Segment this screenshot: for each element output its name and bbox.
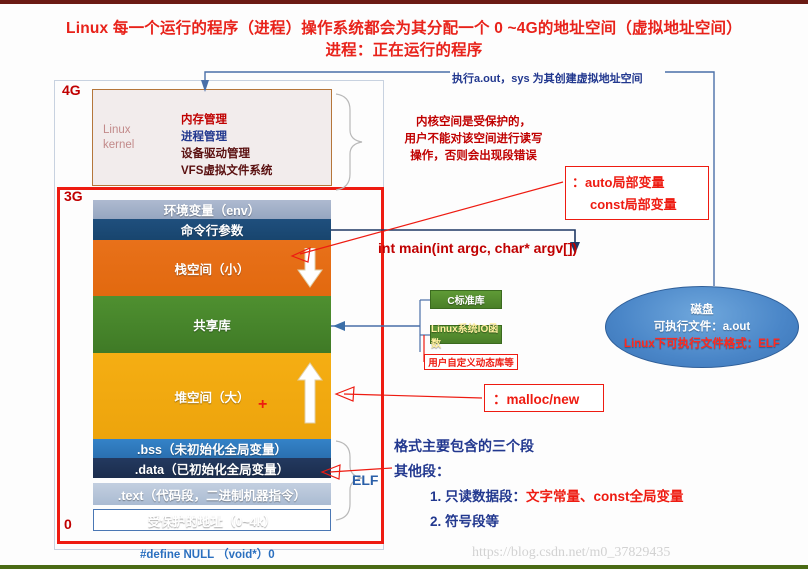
kernel-name: Linux kernel [103, 123, 134, 153]
disk-title: 磁盘 [691, 302, 714, 319]
kernel-name-line1: Linux [103, 123, 134, 138]
segment-text: .text（代码段，二进制机器指令） [93, 483, 331, 505]
stack-contents-callout: ：auto局部变量 const局部变量 [565, 166, 709, 220]
kernel-note-line2: 用户不能对该空间进行读写 [366, 131, 581, 148]
slide-canvas: Linux 每一个运行的程序（进程）操作系统都会为其分配一个 0 ~4G的地址空… [0, 0, 808, 569]
kernel-space-box: Linux kernel 内存管理 进程管理 设备驱动管理 VFS虚拟文件系统 [92, 89, 332, 186]
library-c-standard: C标准库 [430, 290, 502, 309]
kernel-item-memory: 内存管理 [181, 112, 272, 129]
format-item-2: 2. 符号段等 [394, 509, 794, 534]
segment-protected: 受保护的地址（0~4k） [93, 509, 331, 531]
elf-format-list: 格式主要包含的三个段 其他段： 1. 只读数据段：文字常量、const全局变量 … [394, 434, 794, 534]
library-user-custom: 用户自定义动态库等 [424, 354, 518, 370]
kernel-protected-note: 内核空间是受保护的， 用户不能对该空间进行读写 操作，否则会出现段错误 [366, 114, 581, 165]
segment-argv: 命令行参数 [93, 219, 331, 240]
heap-contents-callout: ：malloc/new [484, 384, 604, 412]
format-item-1-red: 文字常量、const全局变量 [526, 489, 684, 504]
define-null-note: #define NULL （void*）0 [140, 546, 275, 562]
stack-callout-line2: const局部变量 [572, 194, 708, 216]
kernel-item-vfs: VFS虚拟文件系统 [181, 163, 272, 180]
stack-grow-down-arrow [297, 248, 323, 288]
elf-label: ELF [352, 472, 378, 488]
kernel-item-process: 进程管理 [181, 129, 272, 146]
format-other: 其他段： [394, 459, 794, 484]
format-heading: 格式主要包含的三个段 [394, 434, 794, 459]
title-line-1: Linux 每一个运行的程序（进程）操作系统都会为其分配一个 0 ~4G的地址空… [0, 18, 808, 40]
format-item-1-prefix: 1. 只读数据段： [430, 489, 526, 504]
disk-ellipse: 磁盘 可执行文件：a.out Linux下可执行文件格式：ELF [605, 286, 799, 368]
segment-heap: 堆空间（大） [93, 353, 331, 439]
kernel-note-line3: 操作，否则会出现段错误 [366, 148, 581, 165]
segment-bss: .bss（未初始化全局变量） [93, 439, 331, 458]
kernel-subsystem-list: 内存管理 进程管理 设备驱动管理 VFS虚拟文件系统 [181, 112, 272, 180]
heap-grow-plus: + [258, 396, 267, 414]
exec-connector-left [205, 72, 450, 80]
main-function-signature: int main(int argc, char* argv[]) [378, 240, 577, 256]
page-title: Linux 每一个运行的程序（进程）操作系统都会为其分配一个 0 ~4G的地址空… [0, 18, 808, 62]
stack-callout-line1: ：auto局部变量 [572, 172, 708, 194]
segment-env: 环境变量（env） [93, 200, 331, 219]
address-label-4g: 4G [62, 82, 81, 98]
segment-data: .data（已初始化全局变量） [93, 458, 331, 478]
watermark-url: https://blog.csdn.net/m0_37829435 [472, 545, 670, 561]
kernel-item-driver: 设备驱动管理 [181, 146, 272, 163]
title-line-2: 进程：正在运行的程序 [0, 40, 808, 62]
disk-executable: 可执行文件：a.out [654, 319, 750, 336]
kernel-note-line1: 内核空间是受保护的， [366, 114, 581, 131]
segment-shared-lib: 共享库 [93, 296, 331, 353]
segment-stack: 栈空间（小） [93, 240, 331, 296]
library-linux-io: Linux系统IO函数 [430, 325, 502, 344]
exec-note: 执行a.out，sys 为其创建虚拟地址空间 [452, 70, 643, 86]
kernel-name-line2: kernel [103, 138, 134, 153]
heap-grow-up-arrow [297, 362, 323, 424]
format-item-1: 1. 只读数据段：文字常量、const全局变量 [394, 484, 794, 509]
disk-elf-format: Linux下可执行文件格式：ELF [624, 336, 780, 353]
